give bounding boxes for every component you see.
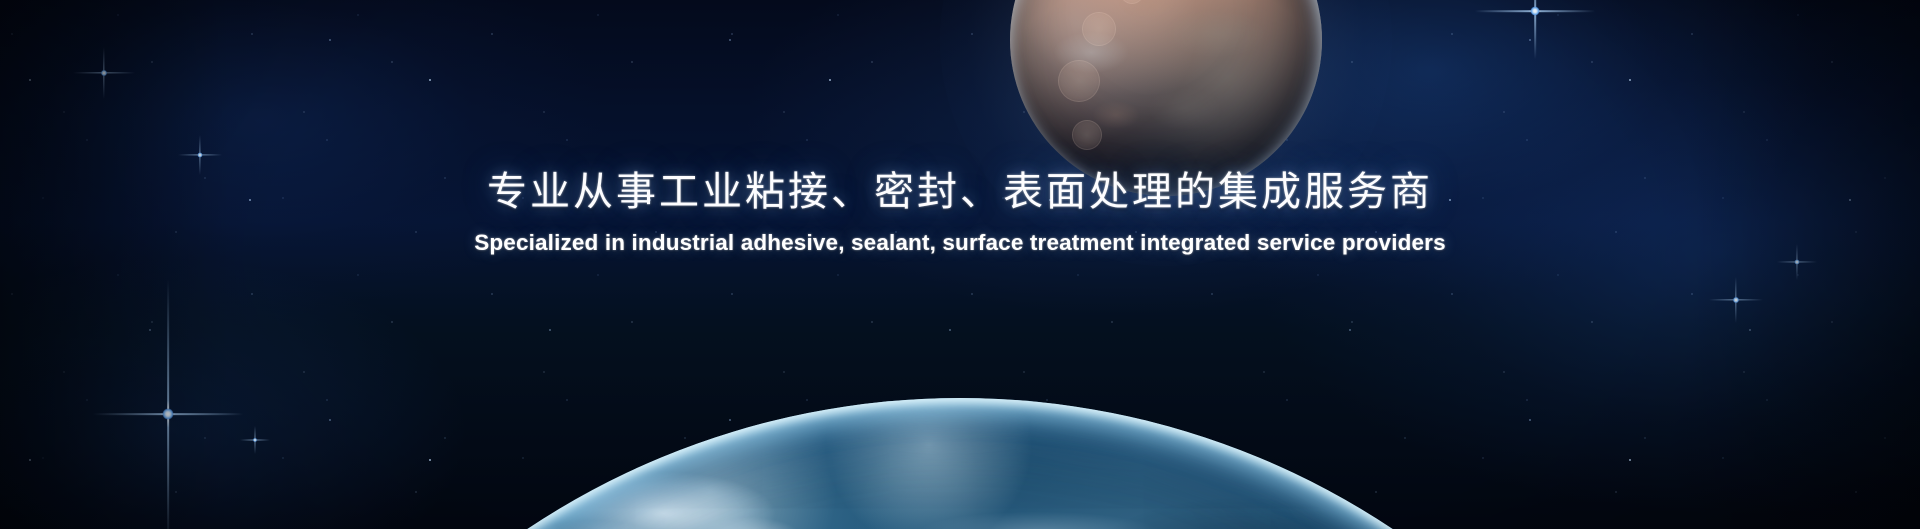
star-core xyxy=(101,70,107,76)
starfield-fine-layer xyxy=(0,0,1920,529)
upper-planet-body xyxy=(1010,0,1322,196)
star-flare-top-right xyxy=(1470,0,1600,64)
star-spike-vertical xyxy=(255,426,256,454)
earth-limb-highlight xyxy=(180,398,1740,529)
earth-body xyxy=(180,398,1740,529)
star-flare-right-low xyxy=(1706,274,1766,326)
star-spike-horizontal xyxy=(73,72,135,73)
earth-terminator-shading xyxy=(180,398,1740,529)
upper-planet-terrain xyxy=(1010,0,1322,196)
earth-atmosphere-glow xyxy=(120,338,1800,529)
vignette-overlay xyxy=(0,0,1920,529)
earth-planet xyxy=(180,398,1740,529)
star-spike-vertical xyxy=(103,47,104,99)
bokeh-circle-2 xyxy=(1058,60,1100,102)
upper-planet-rim-light xyxy=(1010,0,1322,196)
star-spike-horizontal xyxy=(1475,10,1595,12)
upper-planet xyxy=(1010,0,1322,196)
bokeh-circle-4 xyxy=(1120,0,1144,4)
star-flare-mid-left xyxy=(88,274,248,529)
headline-chinese: 专业从事工业粘接、密封、表面处理的集成服务商 xyxy=(0,168,1920,216)
star-core xyxy=(198,153,203,158)
star-spike-vertical xyxy=(167,279,169,529)
star-spike-horizontal xyxy=(1709,299,1763,300)
star-flare-upper-left xyxy=(69,43,139,103)
star-spike-horizontal xyxy=(1777,261,1817,262)
earth-atmosphere-rim xyxy=(180,398,1740,529)
starfield-bright-layer xyxy=(0,0,1920,529)
bokeh-circle-1 xyxy=(1082,12,1116,46)
earth-continents xyxy=(180,398,1740,529)
star-core xyxy=(253,438,257,442)
headline-english: Specialized in industrial adhesive, seal… xyxy=(0,230,1920,256)
star-spike-horizontal xyxy=(93,413,243,415)
star-flare-bottom-left xyxy=(238,424,272,456)
bokeh-circle-3 xyxy=(1072,120,1102,150)
star-spike-horizontal xyxy=(178,154,222,155)
star-spike-vertical xyxy=(1534,0,1536,59)
star-spike-vertical xyxy=(1735,277,1736,323)
upper-planet-limb xyxy=(1010,0,1322,196)
star-core xyxy=(163,409,174,420)
star-spike-horizontal xyxy=(240,440,270,441)
hero-banner: 专业从事工业粘接、密封、表面处理的集成服务商 Specialized in in… xyxy=(0,0,1920,529)
star-core xyxy=(1795,260,1800,265)
star-core xyxy=(1733,297,1739,303)
star-core xyxy=(1531,7,1540,16)
hero-copy: 专业从事工业粘接、密封、表面处理的集成服务商 Specialized in in… xyxy=(0,168,1920,256)
